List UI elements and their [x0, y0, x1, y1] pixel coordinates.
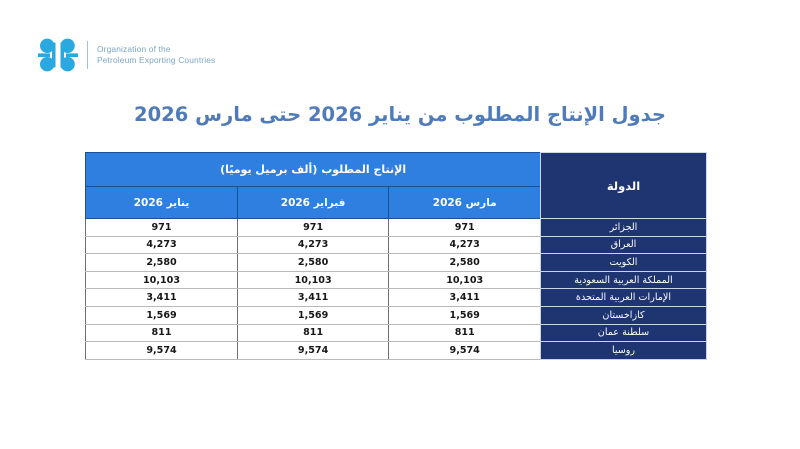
cell-february: 3,411 [237, 289, 389, 307]
cell-january: 971 [86, 219, 238, 237]
table-row: الجزائر 971 971 971 [86, 219, 707, 237]
cell-march: 811 [389, 324, 541, 342]
cell-country: سلطنة عمان [541, 324, 707, 342]
production-table-container: الدولة الإنتاج المطلوب (ألف برميل يوميًا… [86, 152, 707, 360]
cell-february: 1,569 [237, 306, 389, 324]
table-row: كازاخستان 1,569 1,569 1,569 [86, 306, 707, 324]
brand-name-line-2: Petroleum Exporting Countries [97, 55, 215, 66]
cell-country: الإمارات العربية المتحدة [541, 289, 707, 307]
table-row: سلطنة عمان 811 811 811 [86, 324, 707, 342]
cell-january: 9,574 [86, 342, 238, 360]
cell-march: 3,411 [389, 289, 541, 307]
table-row: روسيا 9,574 9,574 9,574 [86, 342, 707, 360]
table-row: المملكة العربية السعودية 10,103 10,103 1… [86, 271, 707, 289]
cell-country: كازاخستان [541, 306, 707, 324]
table-body: الجزائر 971 971 971 العراق 4,273 4,273 4… [86, 219, 707, 360]
cell-february: 2,580 [237, 254, 389, 272]
cell-country: المملكة العربية السعودية [541, 271, 707, 289]
cell-january: 4,273 [86, 236, 238, 254]
table-header-row-group: الدولة الإنتاج المطلوب (ألف برميل يوميًا… [86, 153, 707, 187]
page-title: جدول الإنتاج المطلوب من يناير 2026 حتى م… [0, 103, 800, 126]
column-header-month-march: مارس 2026 [389, 187, 541, 219]
cell-february: 4,273 [237, 236, 389, 254]
table-header: الدولة الإنتاج المطلوب (ألف برميل يوميًا… [86, 153, 707, 219]
table-row: العراق 4,273 4,273 4,273 [86, 236, 707, 254]
cell-march: 1,569 [389, 306, 541, 324]
opec-logo: Organization of the Petroleum Exporting … [38, 37, 215, 73]
cell-january: 1,569 [86, 306, 238, 324]
cell-january: 811 [86, 324, 238, 342]
column-header-month-january: يناير 2026 [86, 187, 238, 219]
cell-january: 10,103 [86, 271, 238, 289]
cell-january: 3,411 [86, 289, 238, 307]
brand-name: Organization of the Petroleum Exporting … [97, 44, 215, 66]
cell-march: 10,103 [389, 271, 541, 289]
table-row: الإمارات العربية المتحدة 3,411 3,411 3,4… [86, 289, 707, 307]
cell-country: الكويت [541, 254, 707, 272]
cell-march: 4,273 [389, 236, 541, 254]
column-header-country: الدولة [541, 153, 707, 219]
production-table: الدولة الإنتاج المطلوب (ألف برميل يوميًا… [85, 152, 707, 360]
cell-february: 811 [237, 324, 389, 342]
cell-february: 9,574 [237, 342, 389, 360]
brand-name-line-1: Organization of the [97, 44, 215, 55]
opec-logo-icon [38, 37, 78, 73]
column-header-month-february: فبراير 2026 [237, 187, 389, 219]
cell-march: 2,580 [389, 254, 541, 272]
cell-country: العراق [541, 236, 707, 254]
column-header-production-group: الإنتاج المطلوب (ألف برميل يوميًا) [86, 153, 541, 187]
cell-march: 971 [389, 219, 541, 237]
cell-january: 2,580 [86, 254, 238, 272]
cell-march: 9,574 [389, 342, 541, 360]
cell-february: 10,103 [237, 271, 389, 289]
logo-divider [87, 41, 88, 69]
cell-country: الجزائر [541, 219, 707, 237]
cell-february: 971 [237, 219, 389, 237]
table-row: الكويت 2,580 2,580 2,580 [86, 254, 707, 272]
page-header: Organization of the Petroleum Exporting … [0, 30, 800, 80]
cell-country: روسيا [541, 342, 707, 360]
